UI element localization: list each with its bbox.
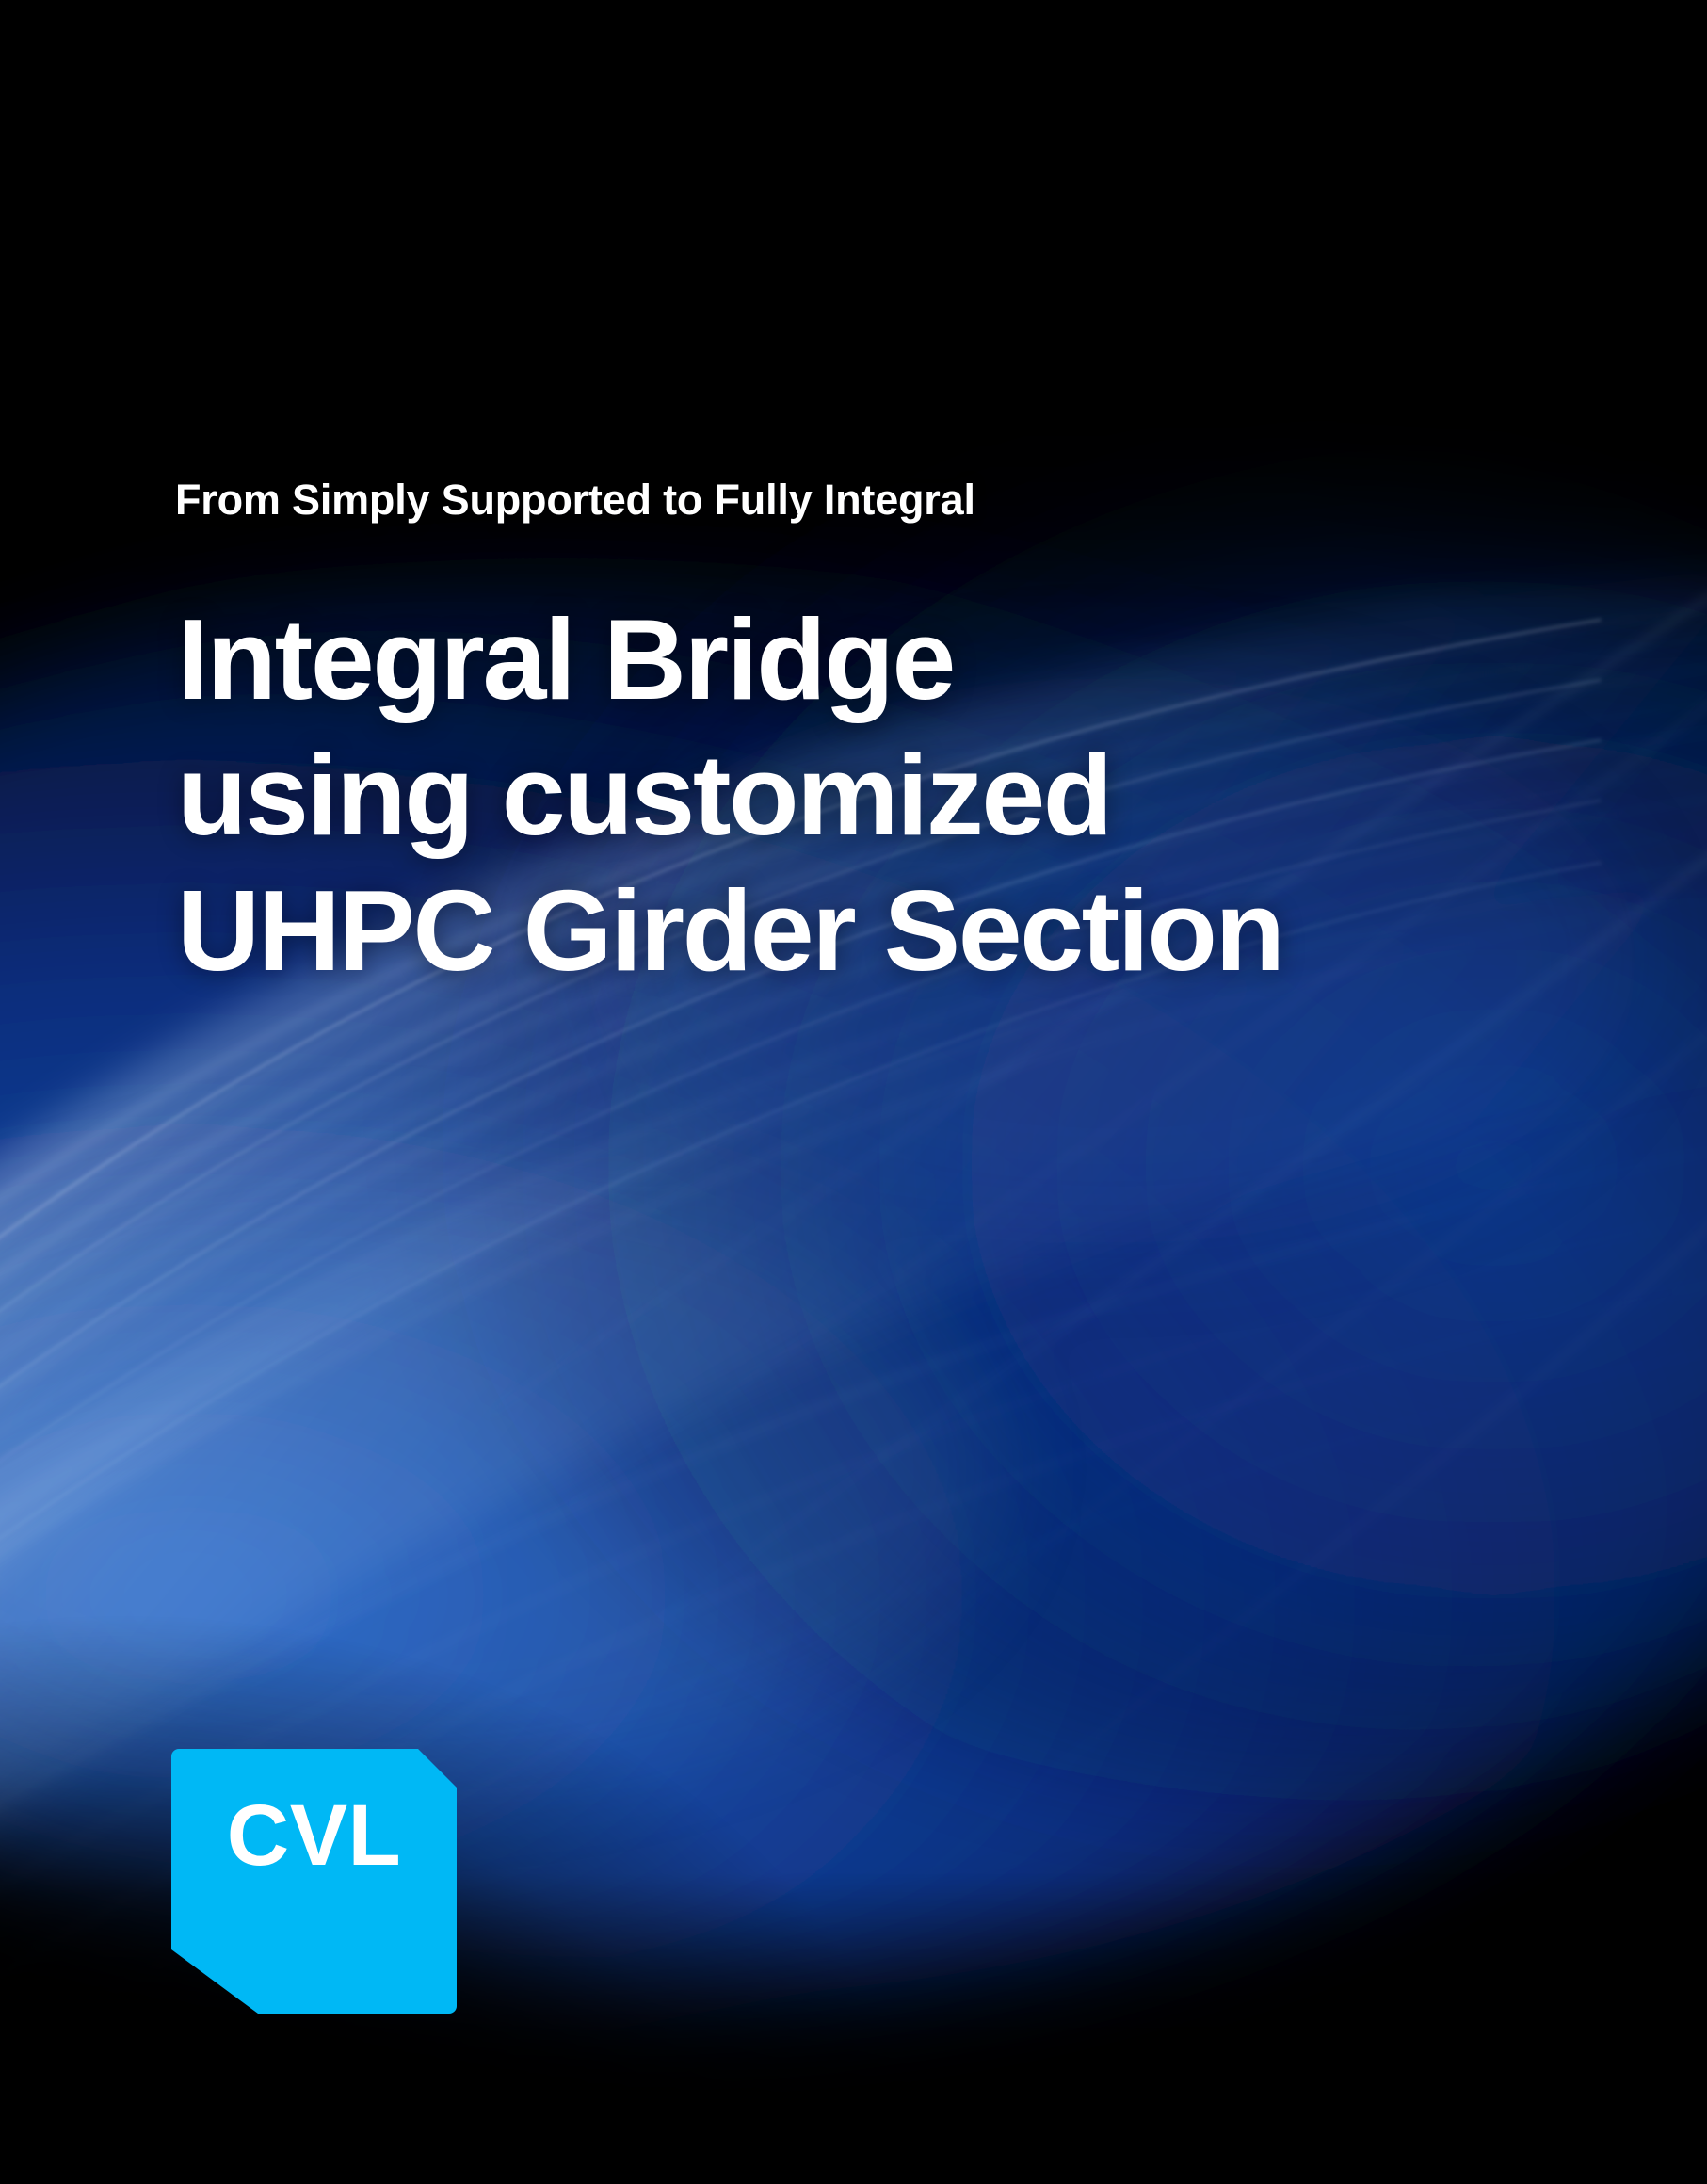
logo-text: CVL bbox=[171, 1792, 457, 1879]
headline-line-1: Integral Bridge bbox=[177, 591, 1283, 727]
poster-canvas: From Simply Supported to Fully Integral … bbox=[0, 0, 1707, 2184]
headline-line-3: UHPC Girder Section bbox=[177, 863, 1283, 998]
cvl-logo[interactable]: CVL bbox=[171, 1749, 457, 2014]
headline-line-2: using customized bbox=[177, 727, 1283, 863]
page-title: Integral Bridge using customized UHPC Gi… bbox=[177, 591, 1283, 998]
eyebrow-text: From Simply Supported to Fully Integral bbox=[175, 476, 975, 525]
